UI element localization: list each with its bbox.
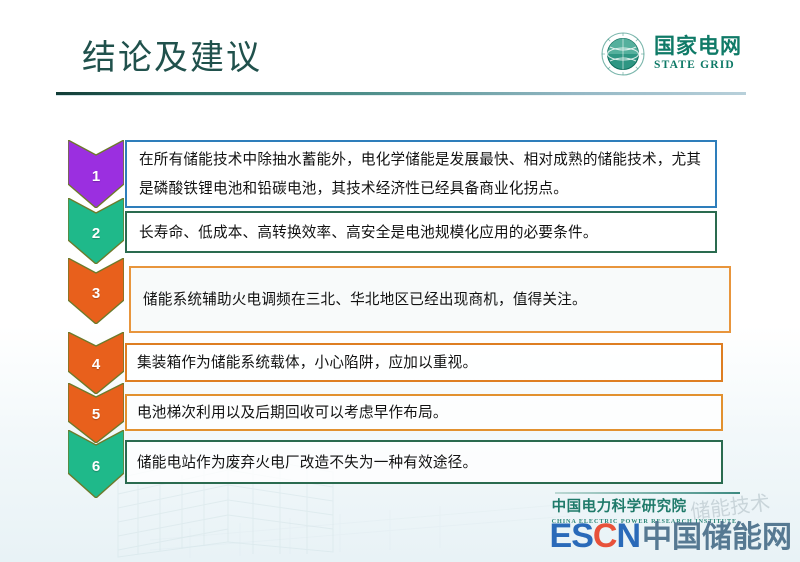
escn-watermark: ES C N 中国储能网 (550, 512, 792, 556)
conclusion-box-3[interactable]: 储能系统辅助火电调频在三北、华北地区已经出现商机，值得关注。 (129, 266, 731, 333)
conclusion-list: 1 在所有储能技术中除抽水蓄能外，电化学储能是发展最快、相对成熟的储能技术，尤其… (0, 0, 800, 562)
conclusion-text: 储能系统辅助火电调频在三北、华北地区已经出现商机，值得关注。 (143, 285, 587, 314)
step-number: 3 (68, 285, 124, 302)
escn-letter-n: N (616, 517, 640, 556)
step-number: 5 (68, 406, 124, 423)
conclusion-text: 在所有储能技术中除抽水蓄能外，电化学储能是发展最快、相对成熟的储能技术，尤其是磷… (139, 145, 703, 203)
conclusion-text: 集装箱作为储能系统载体，小心陷阱，应加以重视。 (137, 348, 477, 377)
slide-canvas: 结论及建议 国家电网 STATE GRID (0, 0, 800, 562)
escn-letter-c: C (593, 517, 617, 556)
conclusion-text: 长寿命、低成本、高转换效率、高安全是电池规模化应用的必要条件。 (139, 218, 598, 247)
step-number: 6 (68, 458, 124, 475)
step-chevron-6[interactable]: 6 (68, 430, 124, 498)
conclusion-text: 储能电站作为废弃火电厂改造不失为一种有效途径。 (137, 448, 477, 477)
conclusion-box-5[interactable]: 电池梯次利用以及后期回收可以考虑早作布局。 (125, 394, 723, 431)
step-chevron-2[interactable]: 2 (68, 198, 124, 264)
step-number: 2 (68, 225, 124, 242)
escn-name-cn: 中国储能网 (642, 512, 792, 556)
conclusion-box-4[interactable]: 集装箱作为储能系统载体，小心陷阱，应加以重视。 (125, 343, 723, 382)
step-number: 4 (68, 356, 124, 373)
conclusion-box-2[interactable]: 长寿命、低成本、高转换效率、高安全是电池规模化应用的必要条件。 (125, 211, 717, 253)
footer-divider (555, 492, 740, 494)
conclusion-text: 电池梯次利用以及后期回收可以考虑早作布局。 (137, 398, 448, 427)
conclusion-box-6[interactable]: 储能电站作为废弃火电厂改造不失为一种有效途径。 (125, 440, 723, 484)
step-number: 1 (68, 168, 124, 185)
step-chevron-3[interactable]: 3 (68, 258, 124, 324)
escn-letters-es: ES (550, 517, 593, 556)
conclusion-box-1[interactable]: 在所有储能技术中除抽水蓄能外，电化学储能是发展最快、相对成熟的储能技术，尤其是磷… (125, 140, 717, 208)
